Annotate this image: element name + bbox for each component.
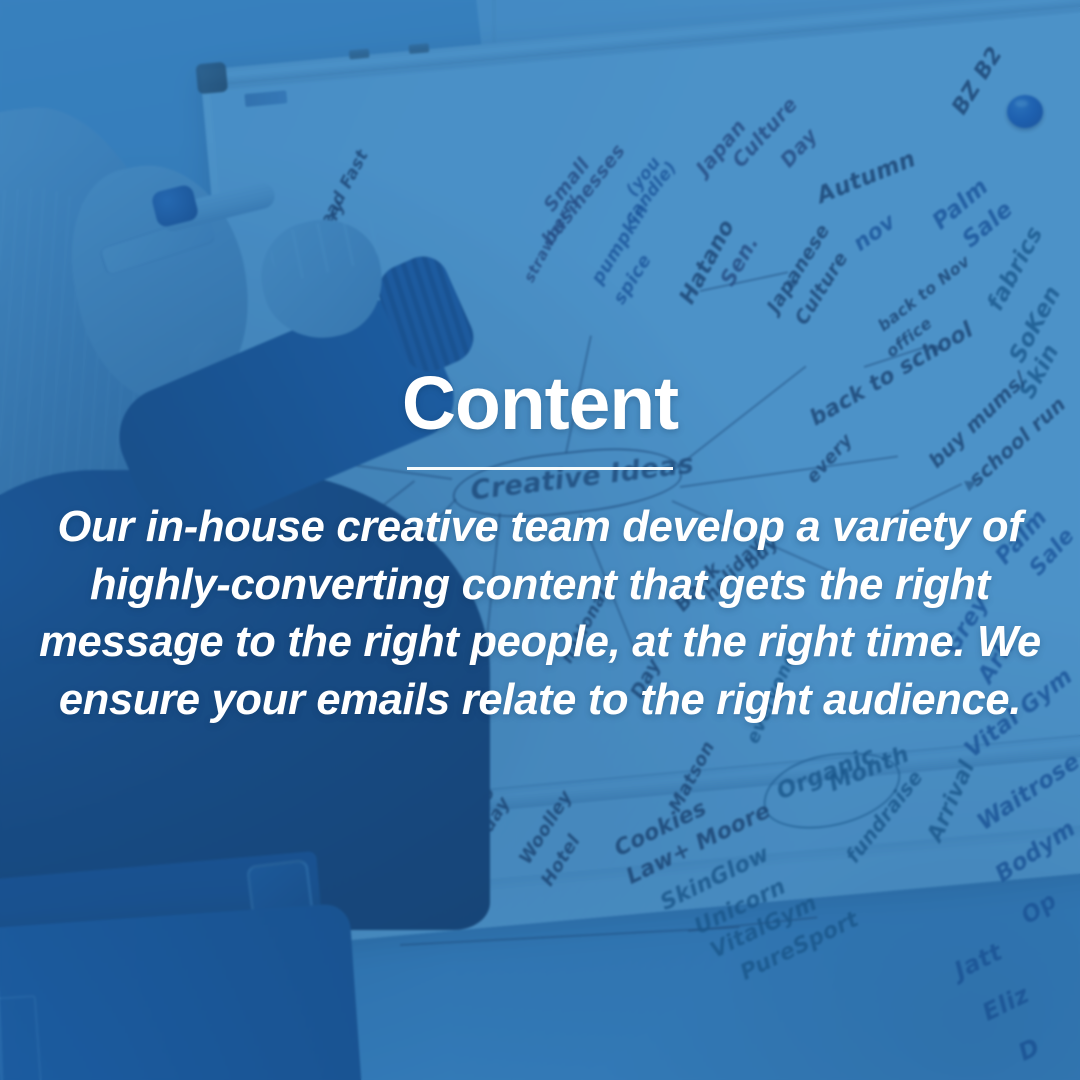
- title-divider: [407, 467, 673, 470]
- page-title: Content: [402, 366, 678, 441]
- promo-card: Creative Ideas Head FastRecoverymoms!Sma…: [0, 0, 1080, 1080]
- card-content: Content Our in-house creative team devel…: [0, 0, 1080, 1080]
- body-paragraph: Our in-house creative team develop a var…: [35, 499, 1045, 729]
